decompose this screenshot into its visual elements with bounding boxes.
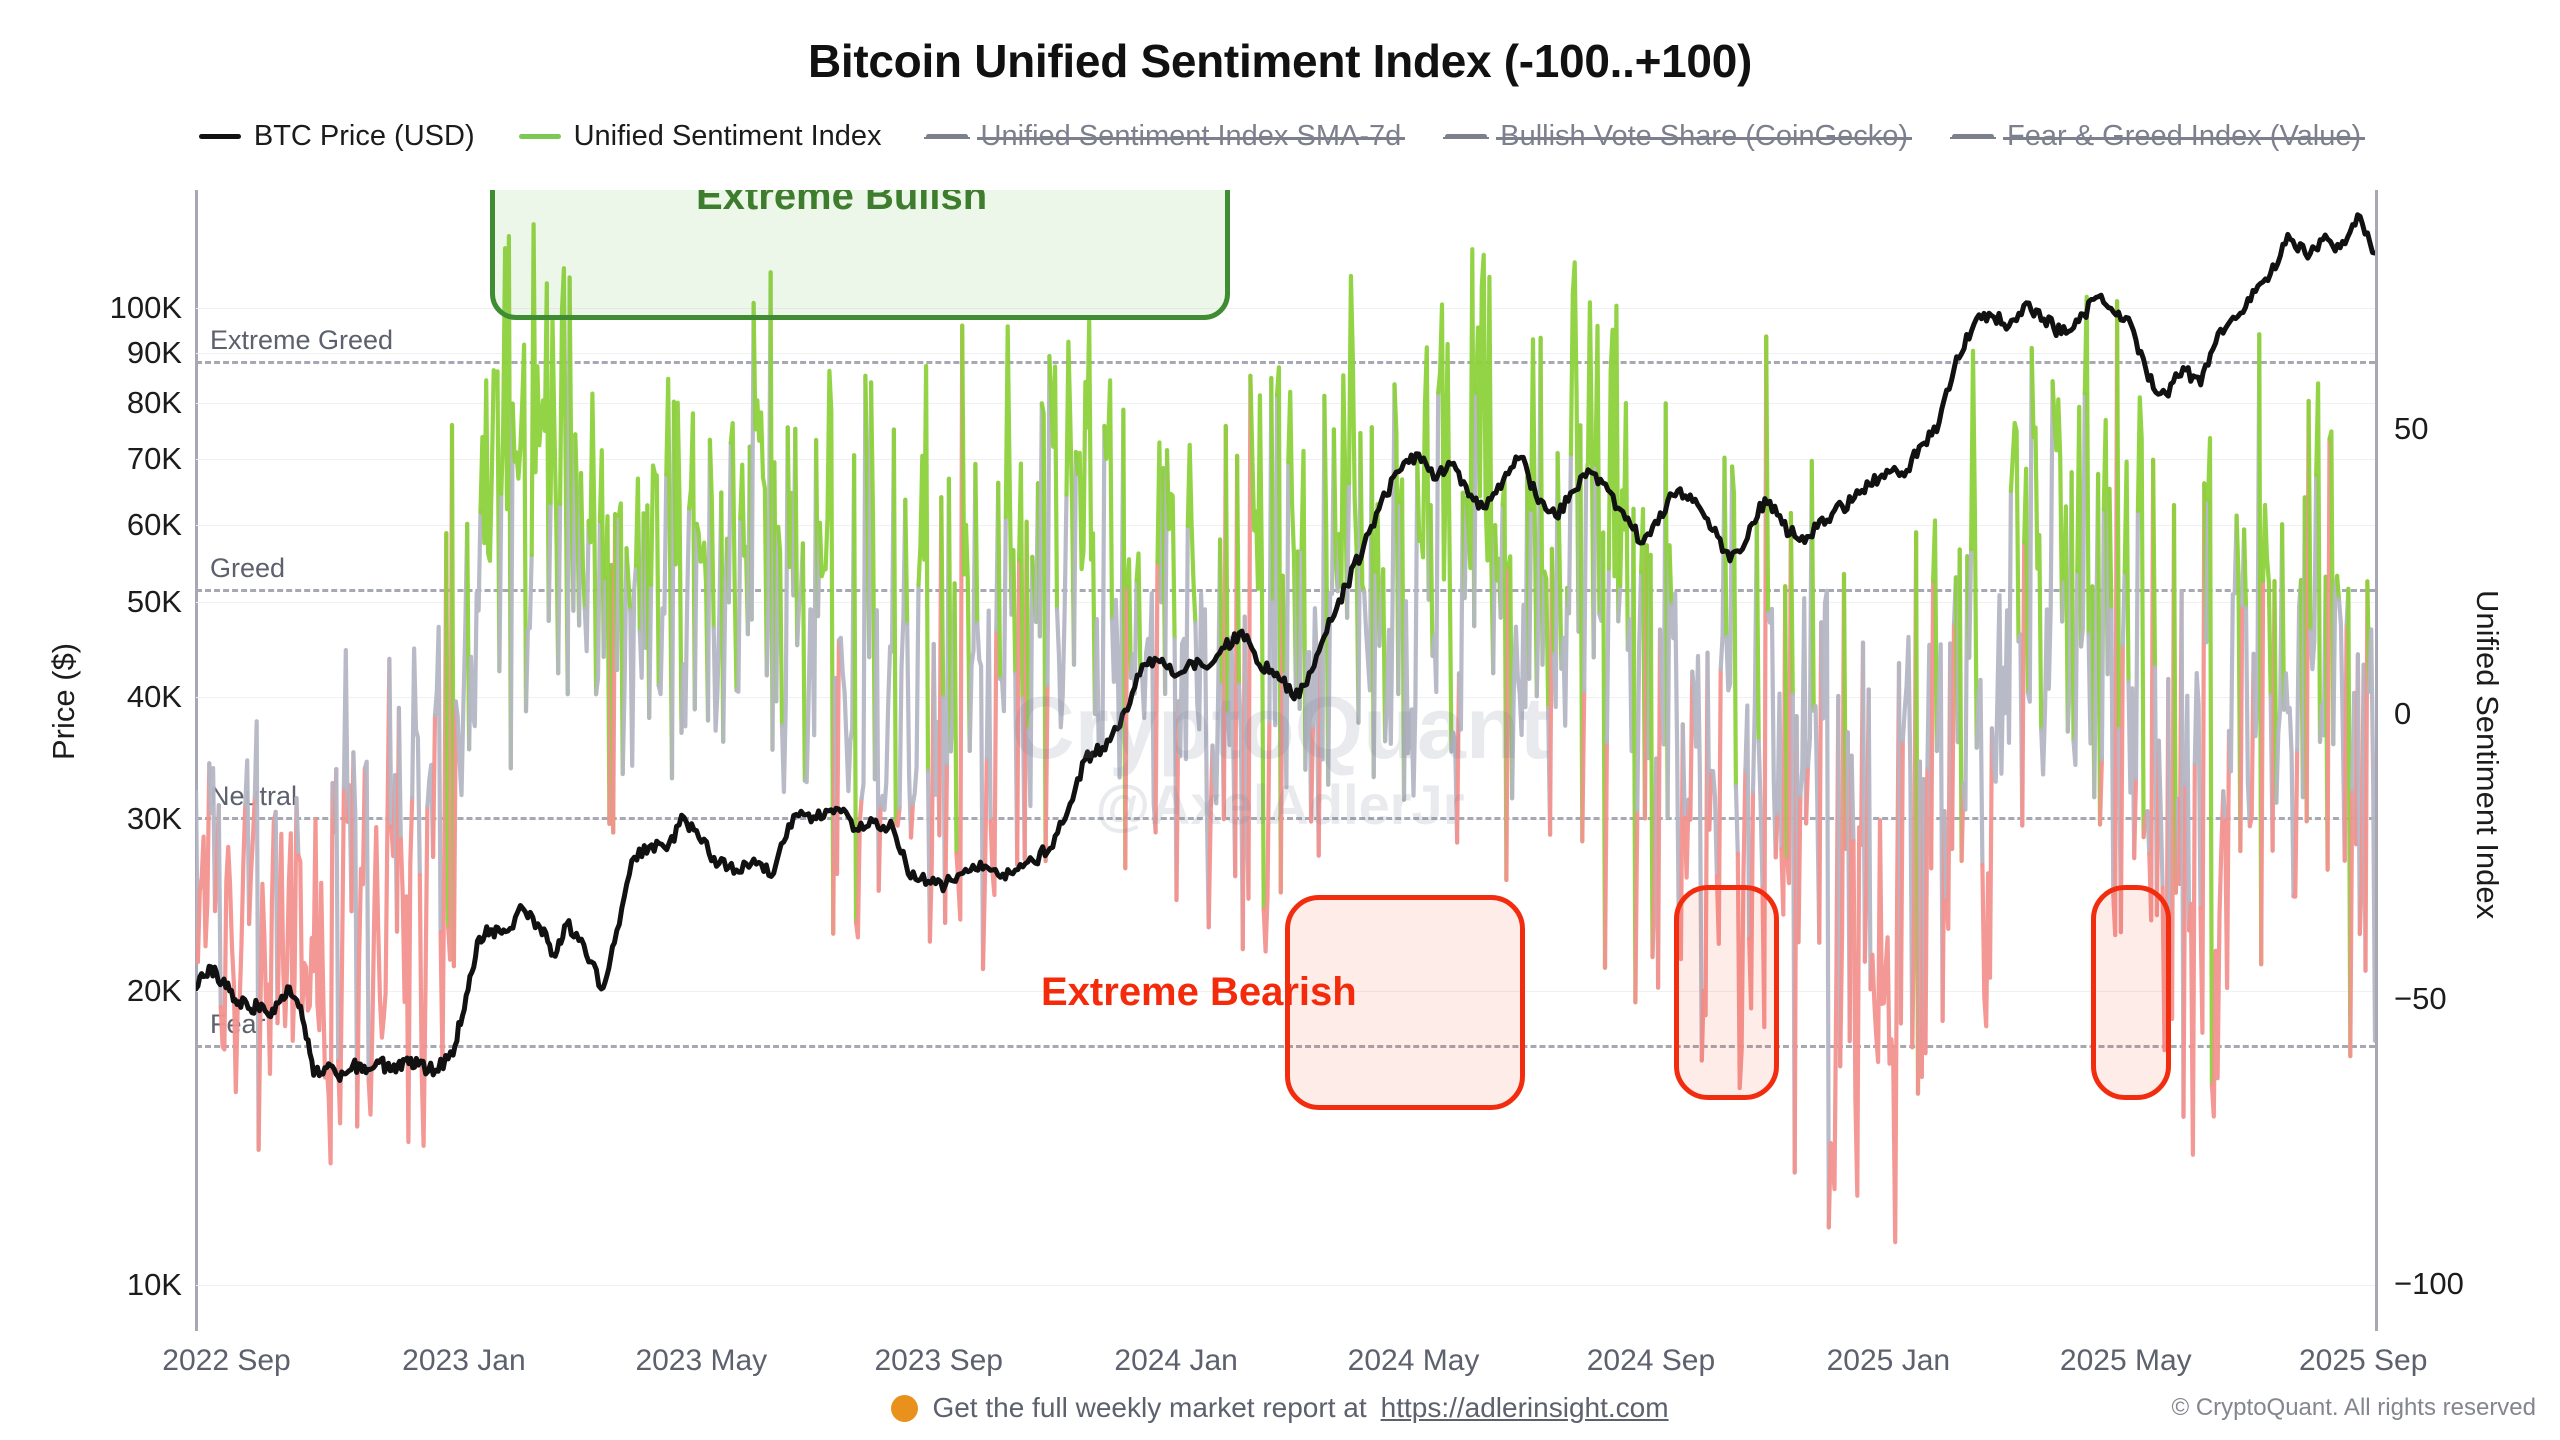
sentiment-series-segment xyxy=(1048,356,1050,685)
sentiment-series-segment xyxy=(1926,768,1928,1053)
sentiment-series-segment xyxy=(1901,741,1903,1023)
sentiment-series-segment xyxy=(1237,456,1239,685)
sentiment-series-segment xyxy=(1347,483,1349,618)
sentiment-series-segment xyxy=(1433,393,1439,692)
sentiment-series-segment xyxy=(2261,581,2263,964)
sentiment-series-segment xyxy=(975,464,977,623)
sentiment-series-segment xyxy=(1618,586,1620,622)
sentiment-series-segment xyxy=(2284,673,2294,896)
right-axis-line xyxy=(2375,190,2378,1331)
extreme-bearish-label: Extreme Bearish xyxy=(1041,970,1357,1015)
sentiment-series-segment xyxy=(2225,731,2229,988)
sentiment-series-segment xyxy=(1903,637,1913,1047)
sentiment-series-segment xyxy=(1385,384,1394,744)
sentiment-series-segment xyxy=(1569,454,1571,613)
sentiment-series-segment xyxy=(1438,305,1451,752)
sentiment-series-segment xyxy=(2134,779,2136,859)
sentiment-series-segment xyxy=(1971,351,1977,748)
sentiment-series-segment xyxy=(1799,796,1801,943)
sentiment-series-segment xyxy=(1806,767,1808,824)
sentiment-series-segment xyxy=(1076,321,1095,714)
sentiment-series-segment xyxy=(2062,579,2064,622)
right-axis-tick: −100 xyxy=(2394,1266,2464,1302)
x-axis-tick: 2023 Sep xyxy=(874,1344,1002,1378)
sentiment-series-segment xyxy=(911,804,913,838)
sentiment-series-segment xyxy=(1605,742,1607,967)
sentiment-series-segment xyxy=(1671,593,1679,953)
sentiment-series-segment xyxy=(2111,609,2113,895)
sentiment-series-segment xyxy=(1156,562,1158,832)
sentiment-series-segment xyxy=(2345,625,2347,861)
sentiment-series-segment xyxy=(1220,540,1222,685)
sentiment-series-segment xyxy=(1074,452,1076,665)
sentiment-series-segment xyxy=(1474,393,1476,626)
chart-container: Bitcoin Unified Sentiment Index (-100..+… xyxy=(0,0,2560,1440)
sentiment-series-segment xyxy=(941,497,943,697)
legend-item-4[interactable]: Fear & Greed Index (Value) xyxy=(1952,120,2361,153)
sentiment-series-segment xyxy=(399,708,401,839)
x-axis-tick: 2025 Jan xyxy=(1827,1344,1950,1378)
sentiment-series-segment xyxy=(1992,491,2011,782)
sentiment-series-segment xyxy=(2053,381,2063,621)
x-axis-tick: 2025 May xyxy=(2060,1344,2192,1378)
left-axis-tick: 90K xyxy=(12,335,182,371)
sentiment-series-segment xyxy=(2244,530,2246,608)
sentiment-series-segment xyxy=(1869,690,1871,990)
sentiment-series-segment xyxy=(1768,609,1776,858)
sentiment-series-segment xyxy=(1757,523,1759,741)
sentiment-series-segment xyxy=(1311,726,1313,822)
x-axis-tick: 2024 May xyxy=(1348,1344,1480,1378)
sentiment-series-segment xyxy=(1690,672,1692,820)
sentiment-series-segment xyxy=(729,443,731,603)
sentiment-series-segment xyxy=(2246,608,2250,827)
sentiment-series-segment xyxy=(1594,465,1596,658)
report-link[interactable]: https://adlerinsight.com xyxy=(1381,1392,1669,1424)
sentiment-series-segment xyxy=(1620,403,1628,650)
sentiment-series-segment xyxy=(1040,403,1042,636)
x-axis-tick: 2023 May xyxy=(635,1344,767,1378)
sentiment-series-segment xyxy=(1226,426,1228,714)
sentiment-series-segment xyxy=(2041,381,2052,774)
sentiment-series-segment xyxy=(1501,505,1503,618)
sentiment-series-segment xyxy=(369,659,390,1115)
legend-swatch-icon xyxy=(926,134,968,139)
sentiment-series-segment xyxy=(2184,784,2186,1117)
sentiment-series-segment xyxy=(617,516,619,670)
sentiment-series-segment xyxy=(1582,691,1584,841)
sentiment-series-segment xyxy=(649,585,651,718)
sentiment-series-segment xyxy=(1977,680,1983,865)
sentiment-series-segment xyxy=(1398,503,1400,694)
left-axis-tick: 100K xyxy=(12,290,182,326)
sentiment-series-segment xyxy=(1637,572,1641,810)
sentiment-series-segment xyxy=(1945,811,1947,900)
sentiment-series-segment xyxy=(881,430,894,810)
sentiment-series-segment xyxy=(1195,594,1208,928)
sentiment-series-segment xyxy=(2072,472,2074,740)
sentiment-series-segment xyxy=(2153,460,2155,668)
legend-item-0[interactable]: BTC Price (USD) xyxy=(199,120,475,153)
sentiment-series-segment xyxy=(604,578,606,657)
sentiment-series-segment xyxy=(2309,401,2311,631)
sentiment-series-segment xyxy=(389,659,391,826)
right-axis-title: Unified Sentiment Index xyxy=(2469,590,2505,919)
chart-legend: BTC Price (USD)Unified Sentiment IndexUn… xyxy=(0,120,2560,153)
legend-item-label: Unified Sentiment Index xyxy=(574,120,882,153)
sentiment-series-segment xyxy=(2208,438,2212,1085)
right-axis-tick: −50 xyxy=(2394,981,2447,1017)
sentiment-series-segment xyxy=(1046,685,1048,861)
sentiment-series-segment xyxy=(1709,771,1711,830)
plot-area: Extreme GreedGreedNeutralFearExtreme Bul… xyxy=(196,190,2375,1330)
sentiment-series-segment xyxy=(1607,569,1609,743)
extreme-bearish-region-2 xyxy=(1674,885,1779,1100)
x-axis-tick: 2024 Sep xyxy=(1587,1344,1715,1378)
sentiment-series-segment xyxy=(1871,663,1900,1242)
sentiment-series-segment xyxy=(879,806,881,890)
sentiment-series-segment xyxy=(1512,477,1527,798)
sentiment-series-segment xyxy=(298,783,332,1163)
sentiment-series-segment xyxy=(945,764,947,923)
sentiment-series-segment xyxy=(1552,549,1554,654)
sentiment-series-segment xyxy=(1027,522,1029,730)
legend-item-1[interactable]: Unified Sentiment Index xyxy=(519,120,882,153)
left-axis-tick: 30K xyxy=(12,801,182,837)
x-axis-tick: 2025 Sep xyxy=(2299,1344,2427,1378)
page-title: Bitcoin Unified Sentiment Index (-100..+… xyxy=(0,34,2560,88)
sentiment-series-segment xyxy=(2369,630,2375,1041)
right-axis-tick: 0 xyxy=(2394,696,2411,732)
sentiment-series-segment xyxy=(1725,458,1727,637)
legend-swatch-icon xyxy=(199,134,241,139)
sentiment-series-segment xyxy=(1431,505,1433,656)
extreme-bulish-label: Extreme Bulish xyxy=(696,190,987,219)
sentiment-series-segment xyxy=(1125,586,1127,868)
sentiment-series-segment xyxy=(820,371,833,934)
sentiment-series-segment xyxy=(1271,378,1273,602)
sentiment-series-segment xyxy=(401,798,412,1142)
sentiment-series-segment xyxy=(1178,526,1187,759)
sentiment-series-segment xyxy=(839,455,854,791)
plot-inner: Extreme GreedGreedNeutralFearExtreme Bul… xyxy=(196,190,2375,1330)
footer-text: Get the full weekly market report at xyxy=(932,1392,1366,1424)
sentiment-series-segment xyxy=(636,479,640,632)
sentiment-series-segment xyxy=(481,370,500,671)
sentiment-series-segment xyxy=(1683,724,1685,818)
sentiment-series-segment xyxy=(1635,811,1637,1003)
sentiment-series-segment xyxy=(2102,509,2104,759)
sentiment-series-segment xyxy=(2123,572,2125,645)
sentiment-series-segment xyxy=(837,640,839,874)
sentiment-series-segment xyxy=(1584,478,1586,691)
sentiment-series-segment xyxy=(469,512,480,749)
sentiment-series-segment xyxy=(1374,572,1376,777)
sentiment-series-segment xyxy=(1095,426,1105,754)
sentiment-series-segment xyxy=(1250,376,1263,910)
sentiment-series-segment xyxy=(2125,462,2129,682)
legend-item-3[interactable]: Bullish Vote Share (CoinGecko) xyxy=(1445,120,1908,153)
sentiment-series-segment xyxy=(446,533,448,927)
sentiment-series-segment xyxy=(1283,576,1285,675)
sentiment-series-segment xyxy=(1766,337,1768,614)
sentiment-series-segment xyxy=(412,649,420,876)
sentiment-series-segment xyxy=(433,715,435,857)
sentiment-series-segment xyxy=(2147,811,2149,854)
sentiment-series-segment xyxy=(499,494,501,672)
sentiment-series-segment xyxy=(2333,576,2337,744)
sentiment-series-segment xyxy=(249,797,255,924)
sentiment-series-segment xyxy=(1476,255,1493,673)
sentiment-series-segment xyxy=(2032,348,2042,730)
sentiment-series-segment xyxy=(731,423,737,690)
x-axis-tick: 2022 Sep xyxy=(162,1344,290,1378)
sentiment-series-segment xyxy=(998,483,1000,679)
sentiment-series-segment xyxy=(1529,510,1531,679)
sentiment-series-segment xyxy=(336,769,338,1061)
orange-dot-icon xyxy=(891,1395,918,1422)
legend-item-label: Fear & Greed Index (Value) xyxy=(2007,120,2361,153)
x-axis-tick: 2023 Jan xyxy=(402,1344,525,1378)
chart-svg xyxy=(196,190,2375,1330)
sentiment-series-segment xyxy=(454,702,456,967)
sentiment-series-segment xyxy=(651,466,659,686)
x-axis-ticks: 2022 Sep2023 Jan2023 May2023 Sep2024 Jan… xyxy=(196,1344,2375,1388)
sentiment-series-segment xyxy=(695,524,697,710)
sentiment-series-segment xyxy=(558,504,560,673)
sentiment-series-segment xyxy=(1812,461,1814,711)
sentiment-series-segment xyxy=(1852,756,1854,842)
left-axis-title: Price ($) xyxy=(46,643,82,760)
extreme-bearish-region-3 xyxy=(2091,885,2171,1100)
sentiment-series-segment xyxy=(2350,790,2352,1057)
sentiment-series-segment xyxy=(1791,513,1793,695)
legend-item-label: Bullish Vote Share (CoinGecko) xyxy=(1500,120,1908,153)
sentiment-series-segment xyxy=(589,394,597,695)
sentiment-series-segment xyxy=(259,812,276,1150)
sentiment-series-segment xyxy=(1017,560,1019,865)
left-axis-tick: 70K xyxy=(12,441,182,477)
sentiment-series-segment xyxy=(2229,516,2237,772)
sentiment-series-segment xyxy=(2337,576,2339,600)
sentiment-series-segment xyxy=(1140,593,1155,832)
sentiment-series-segment xyxy=(2223,791,2225,820)
sentiment-series-segment xyxy=(1506,567,1508,880)
sentiment-series-segment xyxy=(365,762,369,1079)
sentiment-series-segment xyxy=(1417,347,1428,599)
sentiment-series-segment xyxy=(1670,545,1672,605)
legend-item-label: Unified Sentiment Index SMA-7d xyxy=(981,120,1402,153)
sentiment-series-segment xyxy=(1931,581,1933,869)
sentiment-series-segment xyxy=(776,527,778,701)
sentiment-series-segment xyxy=(1969,549,1971,657)
sentiment-series-segment xyxy=(2328,439,2330,869)
sentiment-series-segment xyxy=(297,798,299,855)
sentiment-series-segment xyxy=(2022,543,2024,826)
sentiment-series-segment xyxy=(221,805,246,1093)
legend-item-label: BTC Price (USD) xyxy=(254,120,475,153)
sentiment-series-segment xyxy=(1013,550,1015,674)
sentiment-series-segment xyxy=(905,500,907,624)
x-axis-tick: 2024 Jan xyxy=(1114,1344,1237,1378)
sentiment-series-segment xyxy=(2240,606,2242,851)
left-axis-tick: 20K xyxy=(12,973,182,1009)
sentiment-series-segment xyxy=(854,455,856,922)
sentiment-series-segment xyxy=(2117,301,2119,729)
sentiment-series-segment xyxy=(919,366,929,771)
legend-swatch-icon xyxy=(519,134,561,139)
sentiment-series-segment xyxy=(1404,457,1417,799)
left-axis-tick: 10K xyxy=(12,1267,182,1303)
sentiment-series-segment xyxy=(2136,511,2138,779)
sentiment-series-segment xyxy=(513,345,526,712)
legend-swatch-icon xyxy=(1952,134,1994,139)
sentiment-series-segment xyxy=(754,303,767,675)
legend-item-2[interactable]: Unified Sentiment Index SMA-7d xyxy=(926,120,1402,153)
sentiment-series-segment xyxy=(549,503,551,621)
left-axis-tick: 60K xyxy=(12,507,182,543)
sentiment-series-segment xyxy=(913,585,919,804)
right-axis-tick: 50 xyxy=(2394,411,2428,447)
sentiment-series-segment xyxy=(198,763,209,962)
sentiment-series-segment xyxy=(1776,813,1778,857)
sentiment-series-segment xyxy=(1982,728,1992,1026)
sentiment-series-segment xyxy=(805,440,816,782)
sentiment-series-segment xyxy=(1785,586,1787,859)
sentiment-series-segment xyxy=(1952,623,1954,849)
sentiment-series-segment xyxy=(1821,591,1829,1228)
left-axis-tick: 40K xyxy=(12,679,182,715)
sentiment-series-segment xyxy=(803,543,805,780)
sentiment-series-segment xyxy=(2110,489,2112,609)
sentiment-series-segment xyxy=(2100,759,2102,824)
sentiment-series-segment xyxy=(1543,572,1545,665)
left-axis-tick: 50K xyxy=(12,584,182,620)
left-axis-tick: 80K xyxy=(12,385,182,421)
sentiment-series-segment xyxy=(2206,500,2208,642)
sentiment-series-segment xyxy=(962,326,970,751)
sentiment-series-segment xyxy=(1360,433,1364,591)
left-axis-ticks: 10K20K30K40K50K60K70K80K90K100K xyxy=(0,190,182,1331)
sentiment-series-segment xyxy=(955,583,957,853)
sentiment-series-segment xyxy=(1736,786,1738,854)
sentiment-series-segment xyxy=(2212,791,2223,1116)
sentiment-series-segment xyxy=(894,430,896,823)
legend-swatch-icon xyxy=(1445,134,1487,139)
sentiment-series-segment xyxy=(1759,741,1763,888)
copyright-text: © CryptoQuant. All rights reserved xyxy=(2172,1394,2537,1422)
sentiment-series-segment xyxy=(907,624,911,837)
